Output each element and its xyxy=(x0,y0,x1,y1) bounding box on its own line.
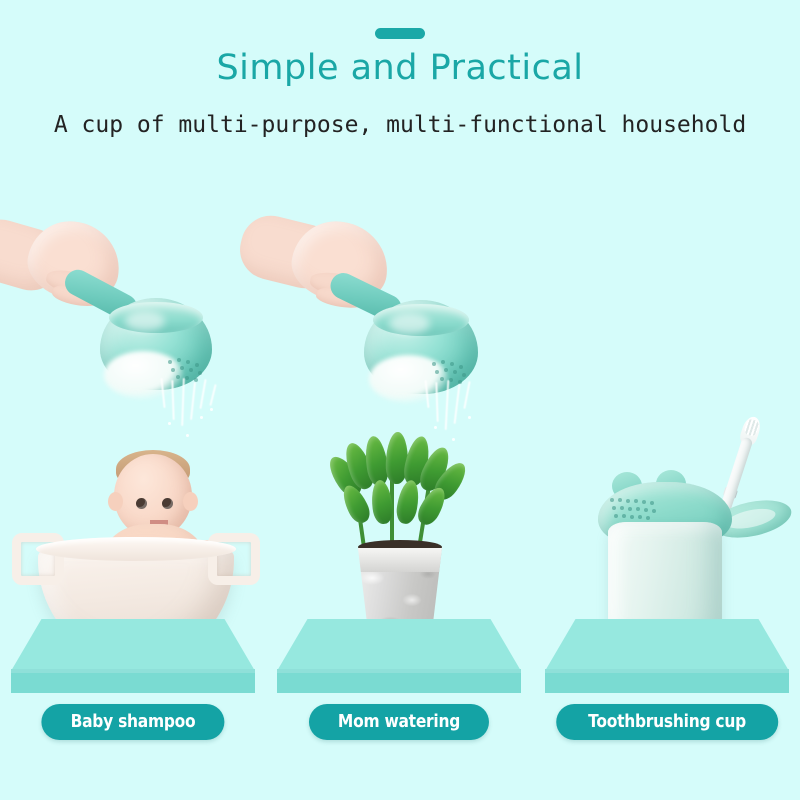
panel-mom-watering: Mom watering xyxy=(266,210,532,800)
scoop-assembly-2 xyxy=(266,216,532,436)
caption-label: Mom watering xyxy=(338,711,460,732)
scoop-highlight xyxy=(389,313,430,334)
display-platform-3 xyxy=(545,619,789,693)
caption-label: Baby shampoo xyxy=(71,711,196,732)
caption-mom-watering[interactable]: Mom watering xyxy=(309,704,489,740)
platform-top-face xyxy=(277,619,521,671)
platform-top-face xyxy=(11,619,255,671)
panel-toothbrushing-cup: Toothbrushing cup xyxy=(534,210,800,800)
accent-divider-bar xyxy=(375,28,425,39)
baby-ear-left xyxy=(108,492,123,511)
platform-front-face xyxy=(277,669,521,693)
display-platform-2 xyxy=(277,619,521,693)
page-subtitle: A cup of multi-purpose, multi-functional… xyxy=(0,112,800,138)
platform-top-face xyxy=(545,619,789,671)
caption-label: Toothbrushing cup xyxy=(588,711,746,732)
platform-front-face xyxy=(11,669,255,693)
caption-baby-shampoo[interactable]: Baby shampoo xyxy=(41,704,224,740)
potted-plant-icon xyxy=(328,432,474,552)
panel-baby-shampoo: Baby shampoo xyxy=(0,210,266,800)
caption-toothbrushing-cup[interactable]: Toothbrushing cup xyxy=(556,704,778,740)
scoop-assembly-1 xyxy=(0,210,266,430)
display-platform-1 xyxy=(11,619,255,693)
scoop-highlight xyxy=(125,311,165,331)
plant-leaf xyxy=(338,482,374,527)
lid-holes-icon xyxy=(610,498,672,524)
baby-eye-left xyxy=(136,498,147,509)
page-title: Simple and Practical xyxy=(0,48,800,88)
tub-rim xyxy=(36,537,236,561)
water-spray-icon xyxy=(160,378,240,458)
baby-eye-right xyxy=(162,498,173,509)
pot-rim xyxy=(352,548,448,572)
baby-ear-right xyxy=(183,492,198,511)
product-infographic: Simple and Practical A cup of multi-purp… xyxy=(0,0,800,800)
platform-front-face xyxy=(545,669,789,693)
